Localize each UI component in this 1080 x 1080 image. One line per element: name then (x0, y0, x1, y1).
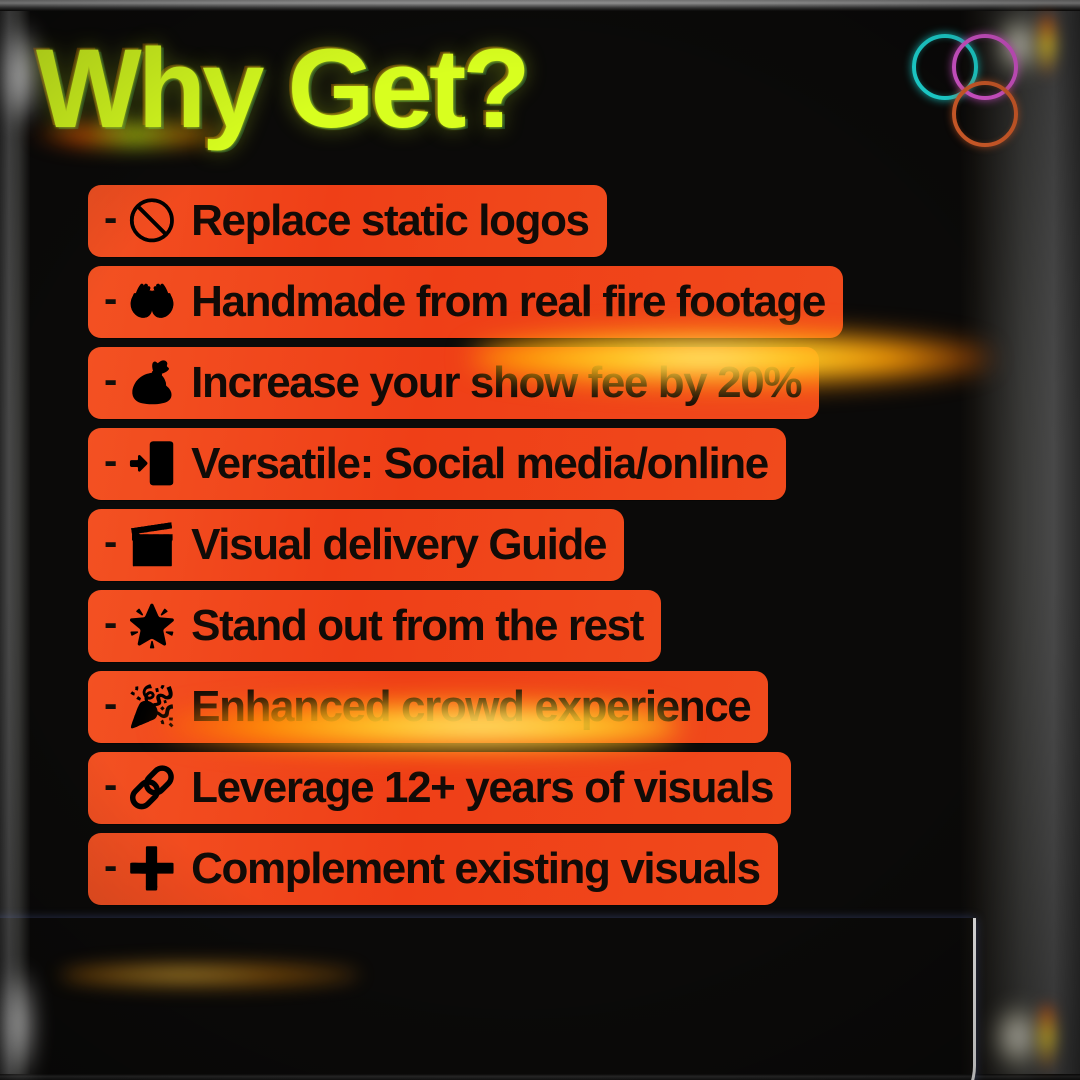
list-item-label: Visual delivery Guide (191, 523, 606, 567)
left-bezel-band (0, 0, 30, 1080)
list-item[interactable]: - 🤲 Handmade from real fire footage (88, 266, 843, 338)
bullet-dash: - (104, 603, 117, 643)
open-hands-icon: 🤲 (127, 282, 177, 322)
bottom-bezel-line (0, 1074, 1080, 1080)
inner-frame-outline (0, 918, 976, 1080)
right-bottom-warm-glow (1038, 1004, 1056, 1070)
bullet-dash: - (104, 441, 117, 481)
bullet-dash: - (104, 522, 117, 562)
list-item[interactable]: - 🚫 Replace static logos (88, 185, 607, 257)
list-item-label: Increase your show fee by 20% (191, 361, 801, 405)
prohibited-icon: 🚫 (127, 201, 177, 241)
bullet-dash: - (104, 765, 117, 805)
list-item-label: Stand out from the rest (191, 604, 643, 648)
party-popper-icon: 🎉 (127, 687, 177, 727)
mobile-phone-arrow-icon: 📲 (127, 444, 177, 484)
top-bezel-line (0, 0, 1080, 11)
list-item[interactable]: - 🔗 Leverage 12+ years of visuals (88, 752, 791, 824)
list-item-label: Complement existing visuals (191, 847, 760, 891)
three-overlapping-circles-logo (912, 34, 1042, 154)
list-item-label: Leverage 12+ years of visuals (191, 766, 773, 810)
page-title: Why Get? (36, 33, 527, 145)
clapper-board-icon: 🎬 (127, 525, 177, 565)
bullet-dash: - (104, 279, 117, 319)
list-item[interactable]: - 💰 Increase your show fee by 20% (88, 347, 819, 419)
right-bottom-specular-glow (994, 1005, 1042, 1069)
list-item-label: Replace static logos (191, 199, 588, 243)
list-item-label: Enhanced crowd experience (191, 685, 750, 729)
list-item[interactable]: - 🎉 Enhanced crowd experience (88, 671, 768, 743)
benefits-list: - 🚫 Replace static logos - 🤲 Handmade fr… (88, 185, 843, 905)
logo-ring-orange-icon (952, 81, 1018, 147)
list-item[interactable]: - 🎬 Visual delivery Guide (88, 509, 624, 581)
fire-glow-streak-bottom (60, 962, 360, 988)
right-bezel-band (960, 0, 1080, 1080)
list-item-label: Handmade from real fire footage (191, 280, 825, 324)
bullet-dash: - (104, 198, 117, 238)
money-bag-icon: 💰 (127, 363, 177, 403)
glowing-star-icon: 🌟 (127, 606, 177, 646)
list-item-label: Versatile: Social media/online (191, 442, 768, 486)
left-bottom-specular-glow (4, 968, 34, 1080)
list-item[interactable]: - 📲 Versatile: Social media/online (88, 428, 786, 500)
bullet-dash: - (104, 846, 117, 886)
bullet-dash: - (104, 360, 117, 400)
poster-canvas: Why Get? - 🚫 Replace static logos - 🤲 Ha… (0, 0, 1080, 1080)
list-item[interactable]: - 🌟 Stand out from the rest (88, 590, 661, 662)
link-icon: 🔗 (127, 768, 177, 808)
heavy-plus-icon: ➕ (127, 849, 177, 889)
bullet-dash: - (104, 684, 117, 724)
left-top-specular-glow (4, 22, 38, 127)
list-item[interactable]: - ➕ Complement existing visuals (88, 833, 778, 905)
